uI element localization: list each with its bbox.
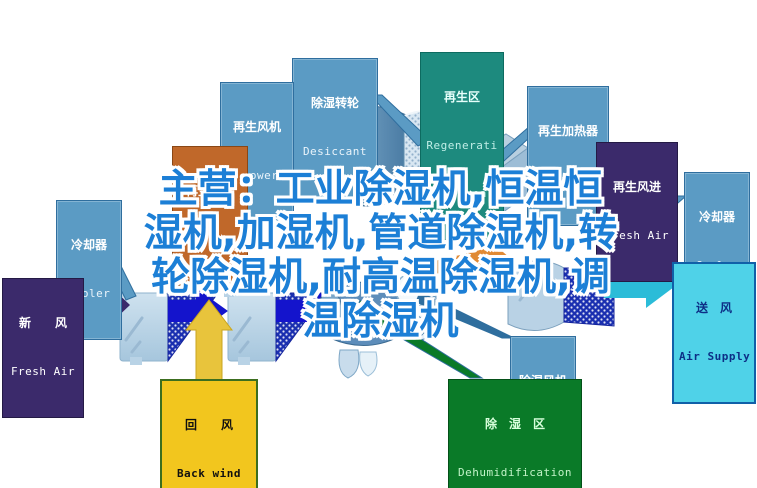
label-fresh-air: 新 风 Fresh Air [2,278,84,418]
label-regeneration-area-en2: on Area [426,188,498,200]
label-back-wind-en: Back wind [167,468,251,480]
label-dehumidification-district-cn: 除 湿 区 [454,418,576,431]
dehumidifier-process-diagram: 除湿转轮 Desiccant 再生风机 Blower 再生区 Regenerat… [0,0,757,488]
label-regeneration-area-en: Regenerati [426,140,498,152]
label-dehumidification-district-en: Dehumidification [454,467,576,479]
label-cooler-left-cn: 冷却器 [62,239,116,252]
label-air-supply: 送 风 Air Supply [672,262,756,404]
label-dehumidification-district: 除 湿 区 Dehumidification District [448,379,582,488]
supply-duct [410,246,614,331]
label-back-wind: 回 风 Back wind [160,379,258,488]
label-back-wind-cn: 回 风 [167,419,251,432]
label-desiccant-wheel-en: Desiccant [298,146,372,158]
label-desiccant-wheel-cn: 除湿转轮 [298,97,372,110]
label-regeneration-air-out-cn: 再生风出 [178,185,242,198]
label-air-supply-en: Air Supply [679,351,749,363]
label-regeneration-blower-cn: 再生风机 [226,121,288,134]
label-regeneration-air-in-cn: 再生风进 [602,181,672,194]
label-fresh-air-en: Fresh Air [8,366,78,378]
label-fresh-air-cn: 新 风 [8,317,78,330]
label-regeneration-heater-en: heater [533,174,603,186]
label-regeneration-area-cn: 再生区 [426,91,498,104]
label-regeneration-air-in: 再生风进 Fresh Air [596,142,678,282]
label-air-supply-cn: 送 风 [679,302,749,315]
label-desiccant-wheel: 除湿转轮 Desiccant [292,58,378,198]
label-regeneration-air-in-en: Fresh Air [602,230,672,242]
label-cooler-right-cn: 冷却器 [690,211,744,224]
label-regeneration-air-out-en: Out Air [178,234,242,246]
label-regeneration-area: 再生区 Regenerati on Area [420,52,504,240]
label-regeneration-heater-cn: 再生加热器 [533,125,603,138]
label-regeneration-air-out: 再生风出 Out Air [172,146,248,286]
